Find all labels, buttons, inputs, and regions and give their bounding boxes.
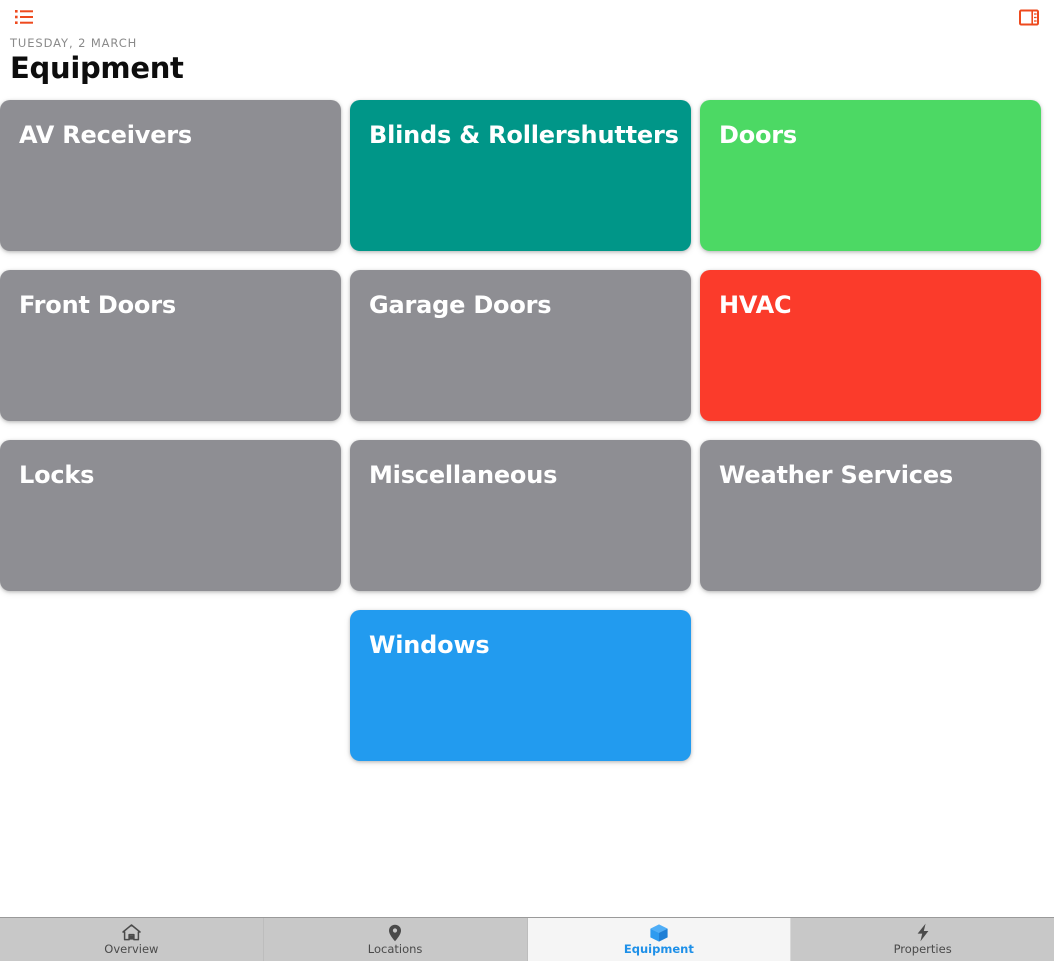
equipment-card[interactable]: Blinds & Rollershutters [350,100,691,251]
nav-tab-locations[interactable]: Locations [264,918,528,961]
equipment-card[interactable]: Weather Services [700,440,1041,591]
nav-tab-label: Equipment [624,943,694,956]
sidebar-panel-icon[interactable] [1016,4,1042,30]
list-icon[interactable] [12,4,38,30]
equipment-card-label: Weather Services [719,460,953,490]
bottom-navigation-bar: Overview Locations Equipment Properties [0,917,1054,961]
nav-tab-properties[interactable]: Properties [791,918,1054,961]
grid-spacer [0,610,341,761]
equipment-card[interactable]: Locks [0,440,341,591]
equipment-card[interactable]: Windows [350,610,691,761]
equipment-card-grid: AV Receivers Blinds & Rollershutters Doo… [0,100,1054,761]
nav-tab-label: Overview [104,943,158,956]
equipment-card[interactable]: Doors [700,100,1041,251]
equipment-card-label: AV Receivers [19,120,192,150]
map-pin-icon [388,923,402,942]
equipment-card[interactable]: AV Receivers [0,100,341,251]
equipment-card-label: HVAC [719,290,791,320]
home-icon [122,923,141,942]
equipment-card-label: Windows [369,630,490,660]
lightning-bolt-icon [916,923,930,942]
equipment-card[interactable]: Garage Doors [350,270,691,421]
equipment-card[interactable]: Front Doors [0,270,341,421]
equipment-card[interactable]: HVAC [700,270,1041,421]
top-bar [0,0,1054,34]
equipment-card-label: Locks [19,460,94,490]
page-title: Equipment [10,50,1054,86]
equipment-card-label: Front Doors [19,290,176,320]
nav-tab-equipment[interactable]: Equipment [528,918,792,961]
equipment-card-label: Garage Doors [369,290,551,320]
equipment-card-label: Blinds & Rollershutters [369,120,679,150]
equipment-card-label: Miscellaneous [369,460,557,490]
nav-tab-label: Locations [368,943,423,956]
equipment-card[interactable]: Miscellaneous [350,440,691,591]
equipment-card-label: Doors [719,120,797,150]
page-header: TUESDAY, 2 MARCH Equipment [0,34,1054,86]
package-box-icon [649,923,669,942]
nav-tab-overview[interactable]: Overview [0,918,264,961]
header-date: TUESDAY, 2 MARCH [10,36,1054,50]
nav-tab-label: Properties [894,943,952,956]
